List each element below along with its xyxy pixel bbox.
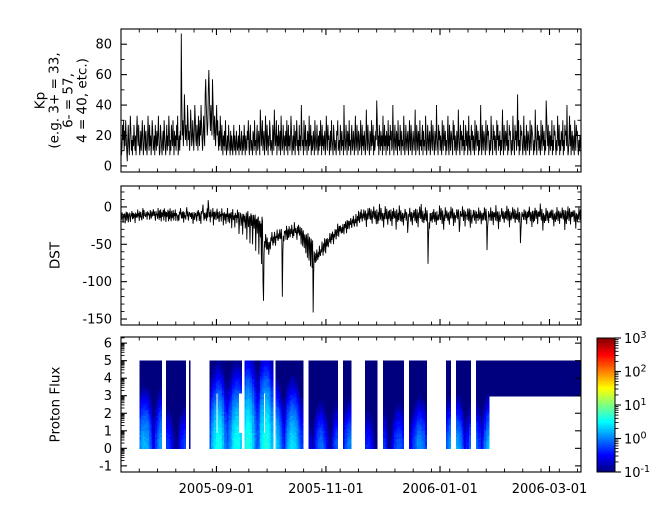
- flux-ytick-label: 3: [104, 389, 112, 404]
- kp-ytick-label: 80: [95, 38, 112, 53]
- colorbar-tick-label-4: 10-1: [624, 464, 650, 481]
- dst-ytick-label: -50: [91, 238, 112, 253]
- dst-ytick-label: -100: [82, 275, 112, 290]
- flux-ytick-label: 6: [104, 337, 112, 352]
- colorbar-tick-label-1: 102: [624, 364, 647, 381]
- kp-ytick-label: 20: [95, 129, 112, 144]
- colorbar: 10310210110010-1: [597, 330, 650, 481]
- colorbar-tick-label-3: 100: [624, 431, 647, 448]
- figure-root: 020406080Kp(e.g. 3+ = 33,6- = 57,4 = 40,…: [0, 0, 665, 523]
- xtick-label-3: 2006-03-01: [512, 482, 588, 497]
- dst-ytick-label: 0: [104, 200, 112, 215]
- flux-ytick-label: -1: [99, 459, 112, 474]
- flux-ylabel: Proton Flux: [48, 367, 64, 443]
- kp-ytick-label: 60: [95, 68, 112, 83]
- dst-ylabel: DST: [48, 241, 64, 269]
- flux-ytick-label: 0: [104, 442, 112, 457]
- xtick-label-1: 2005-11-01: [288, 482, 364, 497]
- xtick-label-2: 2006-01-01: [402, 482, 478, 497]
- flux-ytick-label: 1: [104, 424, 112, 439]
- xtick-label-0: 2005-09-01: [179, 482, 255, 497]
- kp-ytick-label: 40: [95, 99, 112, 114]
- colorbar-tick-label-2: 101: [624, 397, 647, 414]
- kp-ylabel-line-3: 4 = 40, etc.): [75, 58, 91, 143]
- kp-ytick-label: 0: [104, 159, 112, 174]
- dst-ytick-label: -150: [82, 313, 112, 328]
- flux-ytick-label: 5: [104, 354, 112, 369]
- flux-ytick-label: 2: [104, 407, 112, 422]
- colorbar-tick-label-0: 103: [624, 330, 647, 347]
- flux-ytick-label: 4: [104, 372, 112, 387]
